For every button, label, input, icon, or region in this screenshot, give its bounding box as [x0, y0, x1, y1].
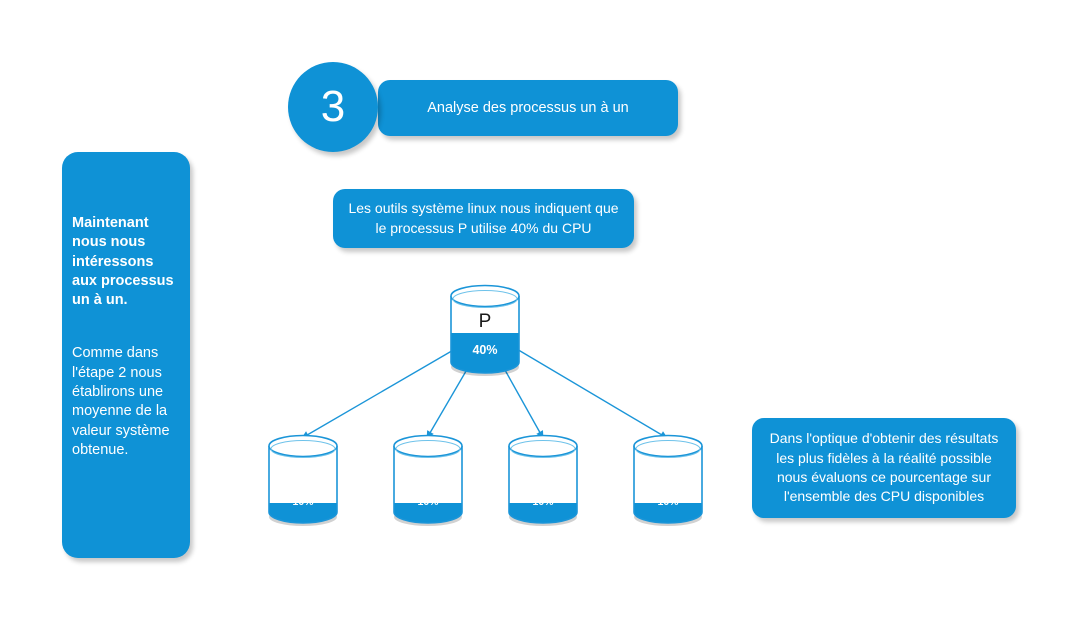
- sidebar-body: Comme dans l'étape 2 nous établirons une…: [72, 344, 180, 460]
- step-number: 3: [321, 85, 345, 129]
- step-badge: 3: [288, 62, 378, 152]
- cylinder-shape: [393, 435, 463, 523]
- sidebar-heading: Maintenant nous nous intéressons aux pro…: [72, 214, 180, 310]
- cylinder-cpu-1: 10%: [268, 435, 338, 523]
- callout-right: Dans l'optique d'obtenir des résultats l…: [752, 418, 1016, 518]
- cylinder-cpu-2: 10%: [393, 435, 463, 523]
- sidebar-note: Maintenant nous nous intéressons aux pro…: [62, 152, 190, 558]
- callout-right-text: Dans l'optique d'obtenir des résultats l…: [752, 429, 1016, 506]
- cylinder-cpu-4: 10%: [633, 435, 703, 523]
- cylinder-shape: [633, 435, 703, 523]
- cylinder-shape: [450, 285, 520, 373]
- connector-1: [302, 345, 462, 438]
- cylinder-cpu-3: 10%: [508, 435, 578, 523]
- page-title-text: Analyse des processus un à un: [413, 99, 643, 117]
- page-title: Analyse des processus un à un: [378, 80, 678, 136]
- callout-middle: Les outils système linux nous indiquent …: [333, 189, 634, 248]
- slide-canvas: 3 Analyse des processus un à un Maintena…: [0, 0, 1076, 625]
- connector-4: [510, 345, 667, 438]
- cylinder-shape: [508, 435, 578, 523]
- cylinder-process-p: P 40%: [450, 285, 520, 373]
- cylinder-shape: [268, 435, 338, 523]
- callout-middle-text: Les outils système linux nous indiquent …: [333, 199, 634, 238]
